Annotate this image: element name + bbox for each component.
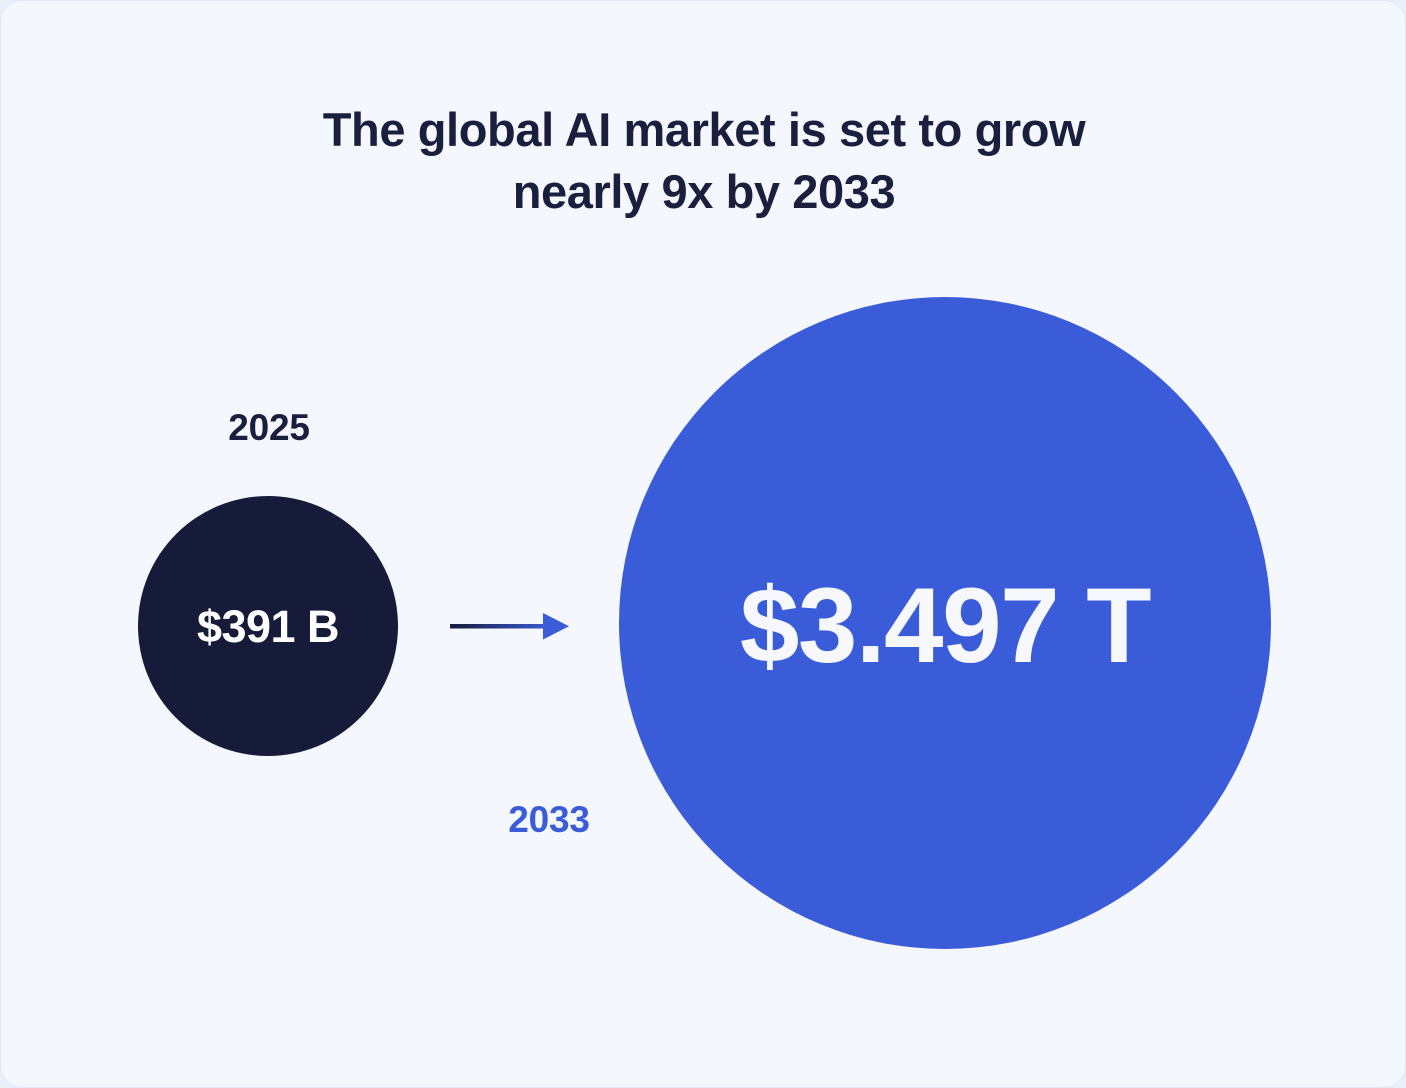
bubble-2025-group: 2025 $391 B: [138, 401, 400, 761]
page-title: The global AI market is set to grow near…: [1, 99, 1406, 223]
bubble-2033-value-label: $3.497 T: [740, 572, 1150, 679]
bubble-2033-year-label: 2033: [479, 799, 619, 841]
growth-arrow: [447, 603, 575, 649]
infographic-card: The global AI market is set to grow near…: [0, 0, 1406, 1088]
bubble-2025-circle: $391 B: [138, 496, 398, 756]
bubble-2025-value-label: $391 B: [197, 604, 339, 649]
bubble-2025-year-label: 2025: [138, 407, 400, 449]
growth-arrow-icon: [447, 603, 575, 649]
bubble-2033-circle: $3.497 T: [619, 297, 1271, 949]
